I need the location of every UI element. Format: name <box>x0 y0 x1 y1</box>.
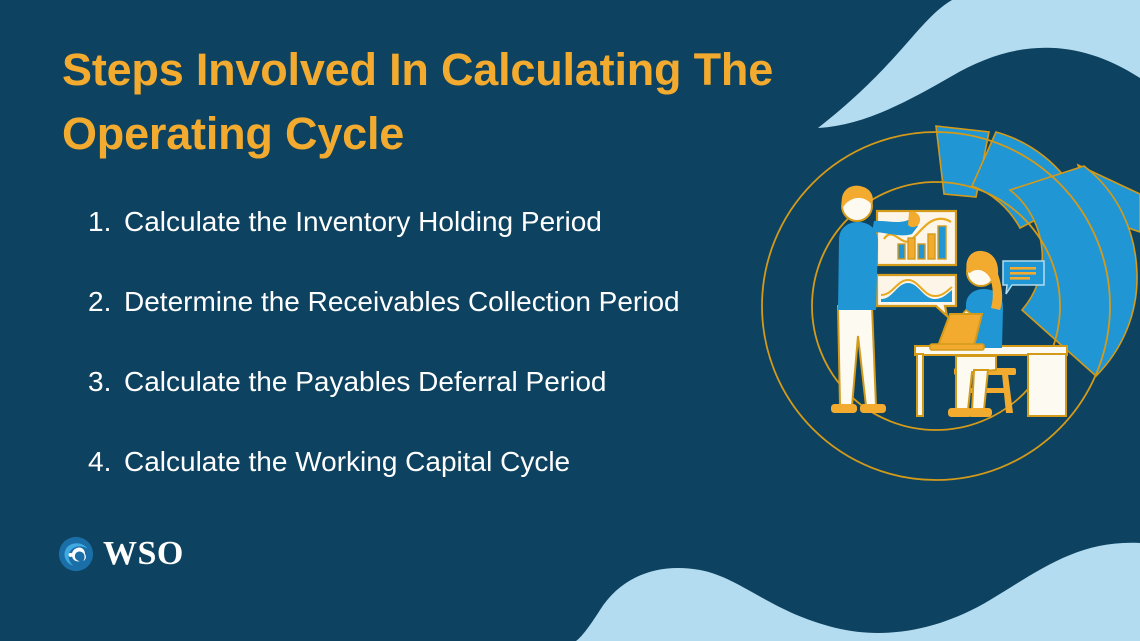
wso-logo: WSO <box>58 536 184 572</box>
list-item: 4. Calculate the Working Capital Cycle <box>88 448 808 528</box>
step-number: 4. <box>88 448 124 476</box>
woman-lower-leg <box>972 370 988 410</box>
man-legs <box>838 306 876 406</box>
man-shoe-right <box>860 404 886 413</box>
step-label: Calculate the Working Capital Cycle <box>124 448 570 476</box>
line-chart-bubble <box>877 275 956 316</box>
step-label: Calculate the Inventory Holding Period <box>124 208 602 236</box>
board-bar-4 <box>928 234 935 259</box>
board-bar-5 <box>938 226 946 259</box>
business-analytics-illustration <box>760 120 1140 520</box>
board-bar-1 <box>898 244 905 259</box>
board-bar-3 <box>918 244 925 259</box>
wso-swirl-icon <box>58 536 94 572</box>
list-item: 1. Calculate the Inventory Holding Perio… <box>88 208 808 288</box>
slide-canvas: Steps Involved In Calculating The Operat… <box>0 0 1140 641</box>
step-number: 2. <box>88 288 124 316</box>
steps-list: 1. Calculate the Inventory Holding Perio… <box>88 208 808 528</box>
man-shoe-left <box>831 404 857 413</box>
man-torso <box>838 222 878 310</box>
page-title: Steps Involved In Calculating The Operat… <box>62 38 822 166</box>
wso-logo-text: WSO <box>103 537 184 571</box>
step-label: Determine the Receivables Collection Per… <box>124 288 680 316</box>
list-item: 3. Calculate the Payables Deferral Perio… <box>88 368 808 448</box>
woman-shoe-right <box>968 408 992 417</box>
step-number: 3. <box>88 368 124 396</box>
step-label: Calculate the Payables Deferral Period <box>124 368 606 396</box>
list-item: 2. Determine the Receivables Collection … <box>88 288 808 368</box>
board-bar-2 <box>908 238 915 259</box>
step-number: 1. <box>88 208 124 236</box>
laptop <box>930 314 984 350</box>
